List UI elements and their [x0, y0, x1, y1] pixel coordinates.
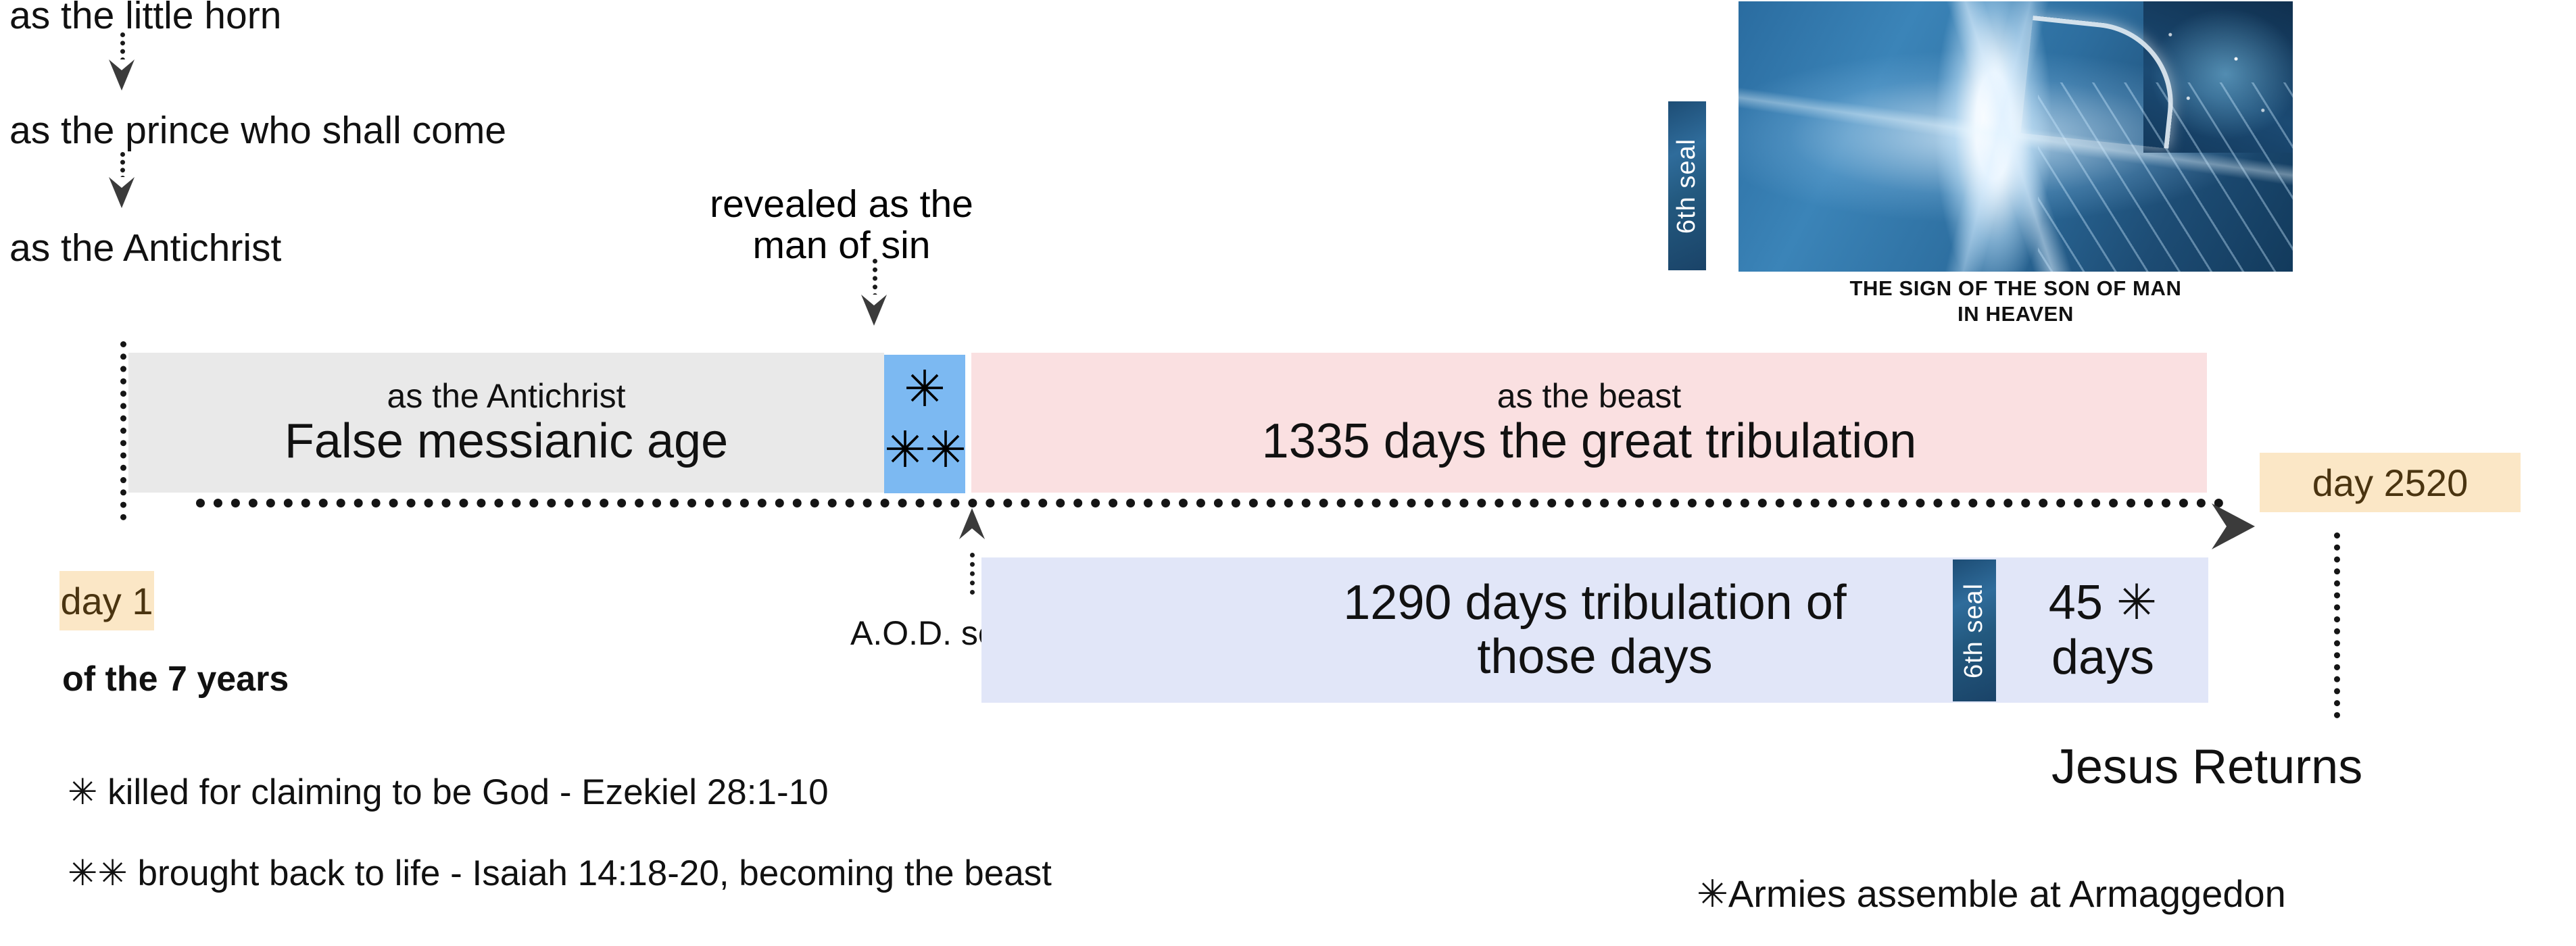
bar-great-tribulation[interactable]: as the beast 1335 days the great tribula…: [971, 353, 2207, 493]
chip-day-2520-label: day 2520: [2312, 461, 2468, 505]
label-jesus-returns: Jesus Returns: [2051, 739, 2362, 795]
connector-dotted-1: [120, 32, 125, 62]
sign-of-son-of-man-image: [1739, 1, 2293, 272]
footnote-1: ✳ killed for claiming to be God - Ezekie…: [68, 772, 829, 813]
bar-45-days-line-2: days: [2051, 630, 2154, 685]
label-of-the-7-years: of the 7 years: [62, 659, 289, 699]
bar-false-messianic-age[interactable]: as the Antichrist False messianic age: [128, 353, 884, 493]
bar-45-days-line-1: 45 ✳: [2049, 576, 2157, 630]
marker-star-double: ✳✳: [884, 425, 965, 475]
arrow-down-icon-2: [109, 177, 135, 208]
end-marker-dotted-line: [2334, 532, 2340, 718]
marker-star-single: ✳: [904, 364, 946, 414]
label-armies-assemble: ✳Armies assemble at Armaggedon: [1697, 872, 2286, 916]
footnote-2: ✳✳ brought back to life - Isaiah 14:18-2…: [68, 853, 1052, 894]
chip-day-2520[interactable]: day 2520: [2260, 453, 2521, 512]
picture-seal-label: 6th seal: [1673, 138, 1702, 233]
timeline-dotted-axis: [196, 499, 2224, 507]
chip-day-1-label: day 1: [61, 579, 153, 623]
lower-bar-seal-label: 6th seal: [1960, 582, 1989, 678]
label-antichrist: as the Antichrist: [9, 228, 281, 269]
bar-death-resurrection-marker[interactable]: ✳ ✳✳: [884, 355, 965, 493]
chip-day-1[interactable]: day 1: [59, 571, 154, 630]
start-marker-dotted-line: [120, 341, 126, 520]
arrow-up-icon-aod: [959, 508, 985, 539]
bar-great-tribulation-label: 1335 days the great tribulation: [1262, 417, 1917, 466]
bar-1290-days-label-line-2: those days: [1477, 630, 1712, 684]
bar-false-messianic-age-sublabel: as the Antichrist: [387, 379, 626, 413]
arrow-down-icon-1: [109, 59, 135, 91]
bar-45-days[interactable]: 45 ✳ days: [1997, 557, 2208, 703]
picture-caption-line-2: IN HEAVEN: [1739, 301, 2293, 327]
lower-bar-seal-tab: 6th seal: [1953, 559, 1996, 701]
label-little-horn: as the little horn: [9, 0, 281, 36]
picture-seal-tab: 6th seal: [1668, 101, 1706, 270]
bar-1290-days-label-line-1: 1290 days tribulation of: [1343, 576, 1847, 630]
label-prince-who-shall-come: as the prince who shall come: [9, 111, 506, 151]
arrow-down-icon-revealed: [861, 295, 887, 326]
aod-dotted-stem: [970, 553, 975, 595]
picture-caption: THE SIGN OF THE SON OF MAN IN HEAVEN: [1739, 276, 2293, 327]
callout-line-2: man of sin: [666, 225, 1017, 266]
bar-great-tribulation-sublabel: as the beast: [1497, 379, 1681, 413]
callout-line-1: revealed as the: [666, 184, 1017, 225]
callout-dotted-stem: [873, 259, 877, 298]
connector-dotted-2: [120, 152, 125, 180]
callout-revealed-as-man-of-sin: revealed as the man of sin: [666, 184, 1017, 266]
bar-false-messianic-age-label: False messianic age: [285, 417, 728, 466]
arrow-right-icon-timeline-end: [2212, 503, 2255, 549]
picture-caption-line-1: THE SIGN OF THE SON OF MAN: [1739, 276, 2293, 301]
